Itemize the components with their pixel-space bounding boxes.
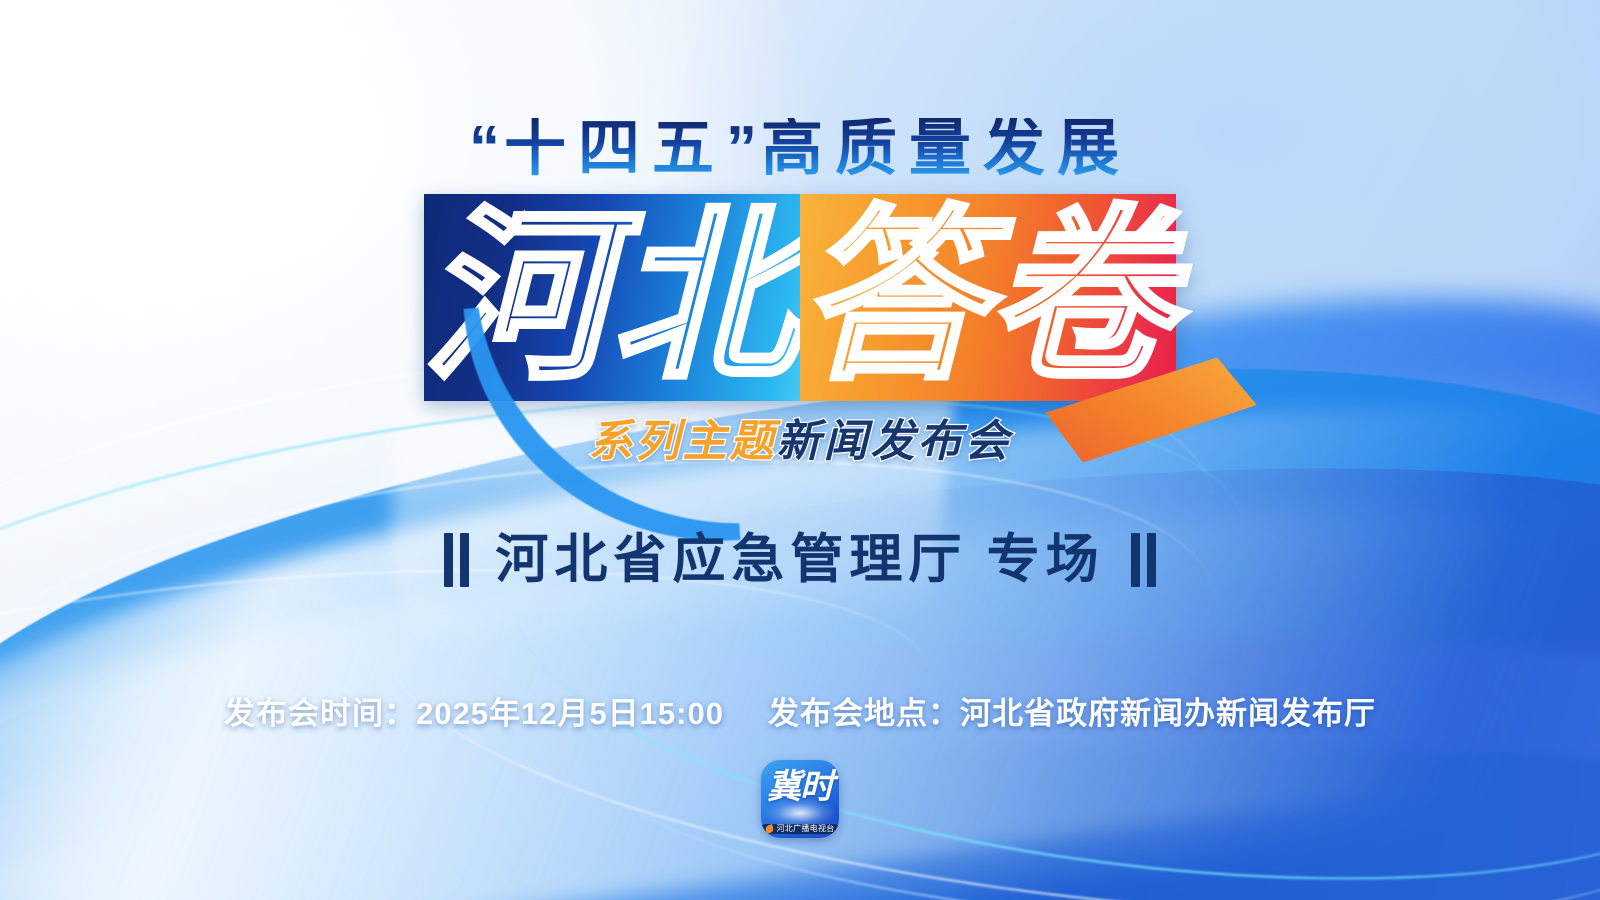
main-title-block: 河北答卷	[0, 205, 1600, 391]
series-subtitle-suffix: 新闻发布会	[777, 417, 1012, 466]
place-label: 发布会地点：	[768, 696, 960, 731]
theme-label: 高质量发展	[761, 114, 1131, 183]
series-subtitle: 系列主题新闻发布会	[0, 420, 1600, 464]
department-session-line: 河北省应急管理厅 专场	[0, 533, 1600, 587]
right-bars-icon	[1131, 533, 1156, 587]
broadcaster-logo: 冀时 河北广播电视台	[761, 760, 839, 838]
time-label: 发布会时间：	[224, 696, 416, 731]
series-subtitle-prefix: 系列主题	[589, 417, 777, 466]
department-session-text: 河北省应急管理厅 专场	[495, 534, 1104, 587]
logo-label: 河北广播电视台	[761, 824, 839, 834]
quote-close-mark: ”	[726, 114, 761, 183]
info-line: 发布会时间：2025年12月5日15:00发布会地点：河北省政府新闻办新闻发布厅	[0, 688, 1600, 733]
main-title-dajuan: 答卷	[800, 194, 1176, 401]
time-value: 2025年12月5日15:00	[416, 696, 724, 731]
left-bars-icon	[444, 533, 469, 587]
quote-open-mark: “	[469, 114, 504, 183]
kicker-line: “十四五”高质量发展	[0, 118, 1600, 180]
logo-wordmark: 冀时	[761, 769, 839, 806]
press-conference-poster: “十四五”高质量发展 河北答卷 系列主题新闻发布会 河北省应急管理厅 专场 发布…	[0, 0, 1600, 900]
logo-tile: 冀时 河北广播电视台	[761, 760, 839, 838]
flame-icon	[764, 824, 774, 834]
broadcaster-name: 河北广播电视台	[776, 825, 834, 833]
poster-content: “十四五”高质量发展 河北答卷 系列主题新闻发布会 河北省应急管理厅 专场 发布…	[0, 0, 1600, 900]
place-value: 河北省政府新闻办新闻发布厅	[960, 696, 1376, 731]
five-year-plan-label: 十四五	[504, 114, 726, 183]
